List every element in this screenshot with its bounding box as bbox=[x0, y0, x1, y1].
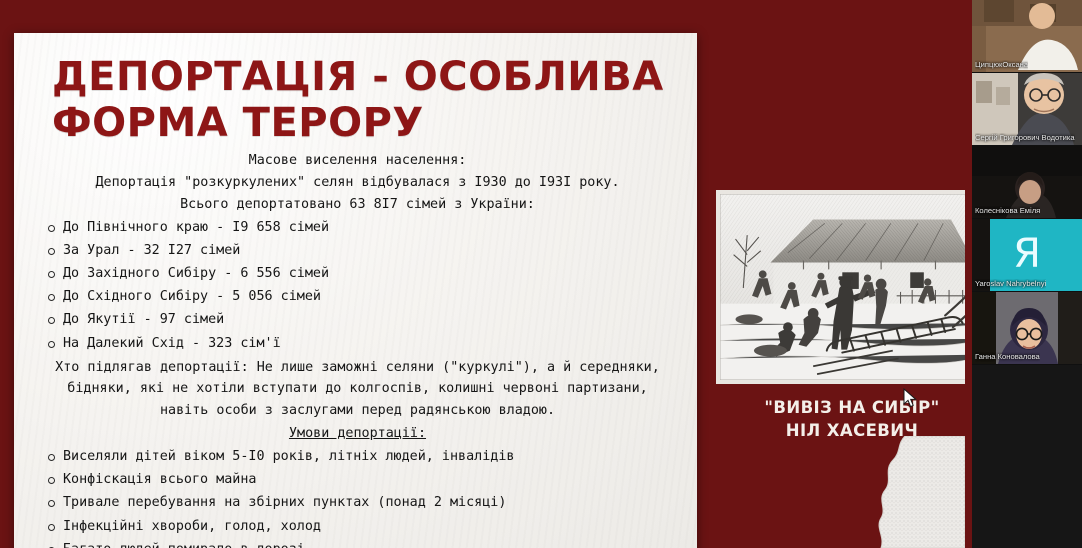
list-item: До Східного Сибіру - 5 056 сімей bbox=[46, 285, 675, 308]
conditions-list: Виселяли дітей віком 5-I0 років, літніх … bbox=[40, 445, 675, 548]
participant-tile[interactable]: Ганна Коновалова bbox=[972, 292, 1082, 365]
participant-tile[interactable]: Я Yaroslav Nahrybelnyi bbox=[972, 219, 1082, 292]
intro-line-3: Всього депортатовано 63 8I7 сімей з Укра… bbox=[40, 194, 675, 216]
list-item: На Далекий Схід - 323 сім'ї bbox=[46, 332, 675, 355]
artwork-engraving bbox=[720, 194, 965, 380]
list-item: До Північного краю - I9 658 сімей bbox=[46, 216, 675, 239]
slide-title: ДЕПОРТАЦІЯ - ОСОБЛИВА ФОРМА ТЕРОРУ bbox=[52, 55, 675, 146]
list-item: Багато людей помирало в дорозі bbox=[46, 538, 675, 548]
participant-name: Ганна Коновалова bbox=[975, 352, 1040, 362]
participant-tile[interactable]: Колеснікова Еміля bbox=[972, 146, 1082, 219]
list-item: Конфіскація всього майна bbox=[46, 468, 675, 491]
intro-line-2: Депортація "розкуркулених" селян відбува… bbox=[40, 172, 675, 194]
who-line-2: бідняки, які не хотіли вступати до колго… bbox=[40, 378, 675, 400]
slide-title-line-1: ДЕПОРТАЦІЯ - ОСОБЛИВА bbox=[52, 55, 675, 101]
participant-name: Колеснікова Еміля bbox=[975, 206, 1040, 216]
destinations-list: До Північного краю - I9 658 сімей За Ура… bbox=[40, 216, 675, 354]
list-item: Інфекційні хвороби, голод, холод bbox=[46, 515, 675, 538]
intro-line-1: Масове виселення населення: bbox=[40, 150, 675, 172]
artwork-frame bbox=[716, 190, 965, 384]
participant-name: Сергій Григорович Водотика bbox=[975, 133, 1075, 143]
slide-body: Масове виселення населення: Депортація "… bbox=[40, 150, 675, 548]
list-item: До Західного Сибіру - 6 556 сімей bbox=[46, 262, 675, 285]
presentation-slide: ДЕПОРТАЦІЯ - ОСОБЛИВА ФОРМА ТЕРОРУ Масов… bbox=[0, 0, 965, 548]
slide-title-line-2: ФОРМА ТЕРОРУ bbox=[52, 101, 675, 147]
torn-paper-decoration bbox=[847, 436, 965, 548]
slide-paper-sheet: ДЕПОРТАЦІЯ - ОСОБЛИВА ФОРМА ТЕРОРУ Масов… bbox=[14, 33, 697, 548]
participant-initial: Я bbox=[972, 234, 1082, 274]
participant-tile[interactable]: Сергій Григорович Водотика bbox=[972, 73, 1082, 146]
artwork-caption-line-1: "ВИВІЗ НА СИБІР" bbox=[716, 396, 965, 419]
who-line-3: навіть особи з заслугами перед радянсько… bbox=[40, 400, 675, 422]
participant-name: ЦипцюкОксана bbox=[975, 60, 1028, 70]
conditions-heading: Умови депортації: bbox=[40, 423, 675, 445]
who-line-1: Хто підлягав депортації: Не лише заможні… bbox=[40, 357, 675, 379]
list-item: Тривале перебування на збірних пунктах (… bbox=[46, 491, 675, 514]
who-paragraph: Хто підлягав депортації: Не лише заможні… bbox=[40, 357, 675, 422]
rail-background bbox=[972, 360, 1082, 548]
participant-name: Yaroslav Nahrybelnyi bbox=[975, 279, 1046, 289]
participant-rail[interactable]: ЦипцюкОксана bbox=[972, 0, 1082, 548]
participant-tile[interactable]: ЦипцюкОксана bbox=[972, 0, 1082, 73]
screen-share-view: ДЕПОРТАЦІЯ - ОСОБЛИВА ФОРМА ТЕРОРУ Масов… bbox=[0, 0, 1082, 548]
list-item: До Якутії - 97 сімей bbox=[46, 308, 675, 331]
list-item: За Урал - 32 I27 сімей bbox=[46, 239, 675, 262]
list-item: Виселяли дітей віком 5-I0 років, літніх … bbox=[46, 445, 675, 468]
